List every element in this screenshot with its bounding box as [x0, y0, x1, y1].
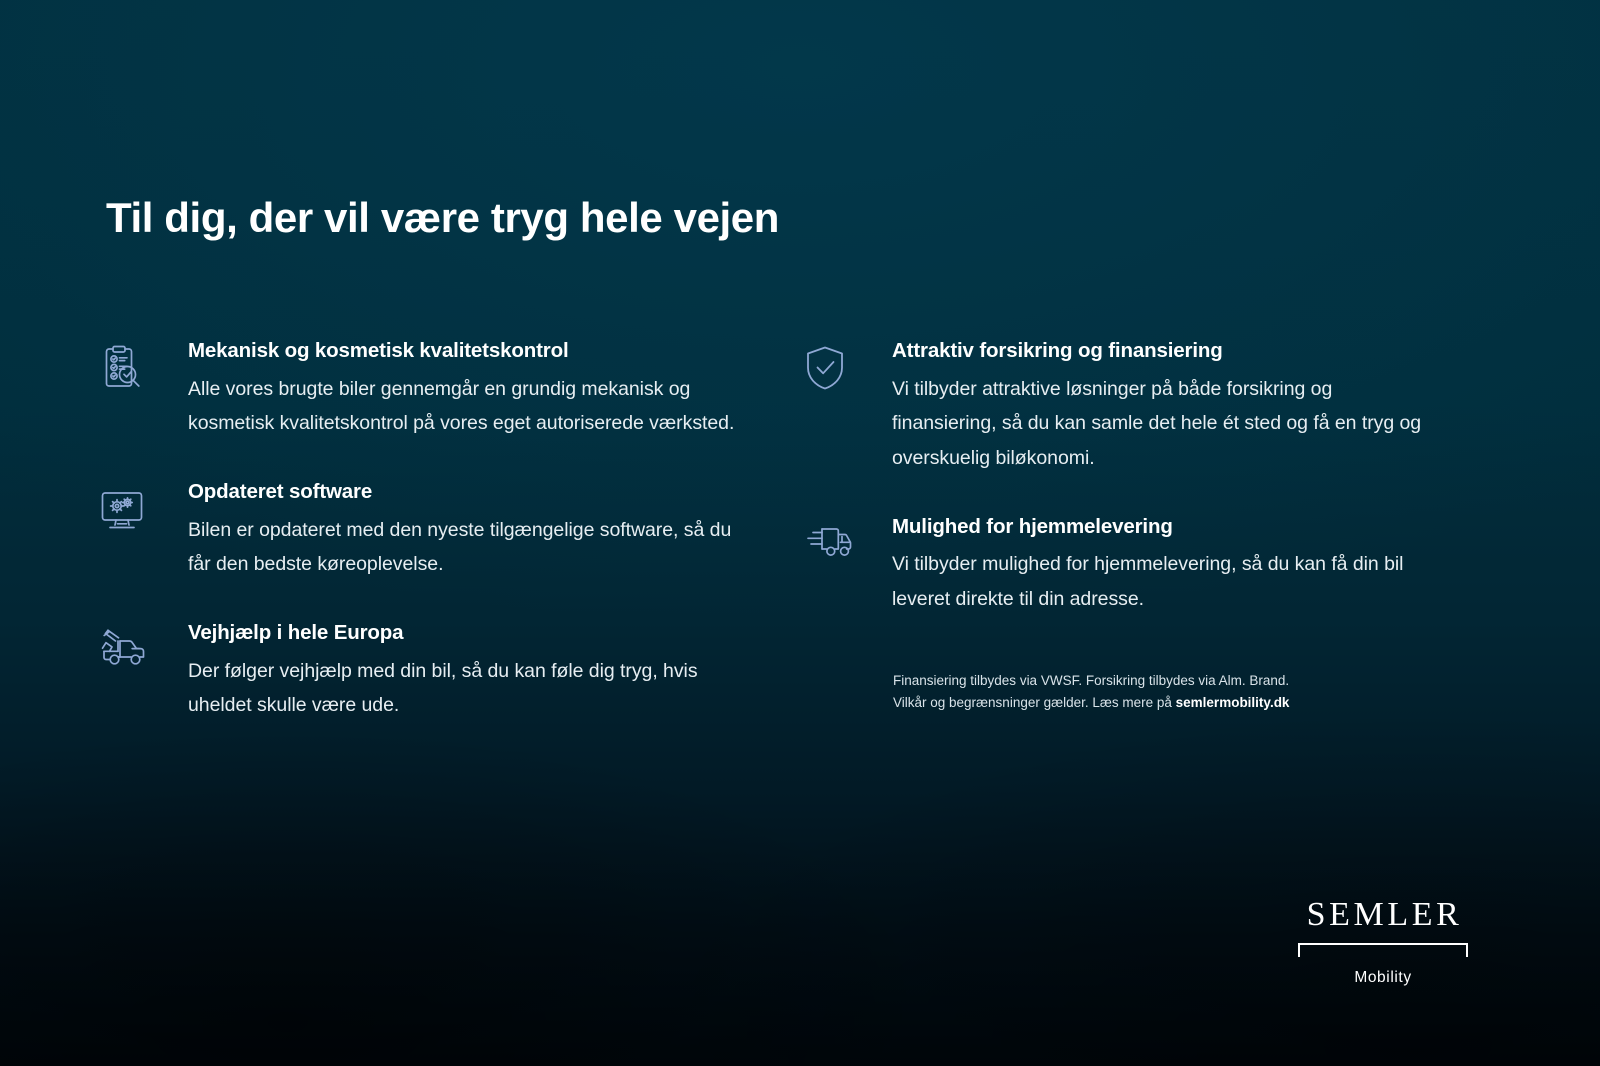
- semler-mobility-logo: SEMLER Mobility: [1298, 898, 1468, 987]
- feature-text: Alle vores brugte biler gennemgår en gru…: [188, 372, 736, 441]
- feature-text: Vi tilbyder mulighed for hjemmelevering,…: [892, 547, 1440, 616]
- monitor-gears-icon: [96, 479, 188, 582]
- feature-text: Bilen er opdateret med den nyeste tilgæn…: [188, 513, 736, 582]
- feature-body: Opdateret software Bilen er opdateret me…: [188, 479, 736, 582]
- feature-column-right: Attraktiv forsikring og finansiering Vi …: [800, 338, 1440, 617]
- feature-item: Mulighed for hjemmelevering Vi tilbyder …: [800, 514, 1440, 617]
- clipboard-check-magnifier-icon: [96, 338, 188, 441]
- tow-truck-icon: [96, 620, 188, 723]
- feature-body: Mekanisk og kosmetisk kvalitetskontrol A…: [188, 338, 736, 441]
- logo-subtitle: Mobility: [1298, 969, 1468, 987]
- feature-item: Opdateret software Bilen er opdateret me…: [96, 479, 736, 582]
- feature-body: Vejhjælp i hele Europa Der følger vejhjæ…: [188, 620, 736, 723]
- feature-body: Attraktiv forsikring og finansiering Vi …: [892, 338, 1440, 476]
- logo-divider: [1298, 943, 1468, 959]
- disclaimer-line-2: Vilkår og begrænsninger gælder. Læs mere…: [893, 692, 1413, 714]
- feature-item: Mekanisk og kosmetisk kvalitetskontrol A…: [96, 338, 736, 441]
- feature-title: Mekanisk og kosmetisk kvalitetskontrol: [188, 338, 736, 364]
- logo-divider-tick-left: [1298, 943, 1300, 957]
- feature-title: Vejhjælp i hele Europa: [188, 620, 736, 646]
- feature-body: Mulighed for hjemmelevering Vi tilbyder …: [892, 514, 1440, 617]
- semlermobility-link[interactable]: semlermobility.dk: [1176, 695, 1290, 710]
- promo-panel: Til dig, der vil være tryg hele vejen: [0, 0, 1600, 1066]
- disclaimer-line-2-prefix: Vilkår og begrænsninger gælder. Læs mere…: [893, 695, 1176, 710]
- feature-item: Attraktiv forsikring og finansiering Vi …: [800, 338, 1440, 476]
- delivery-truck-icon: [800, 514, 892, 617]
- disclaimer: Finansiering tilbydes via VWSF. Forsikri…: [893, 670, 1413, 714]
- feature-item: Vejhjælp i hele Europa Der følger vejhjæ…: [96, 620, 736, 723]
- logo-wordmark: SEMLER: [1298, 898, 1468, 932]
- feature-text: Vi tilbyder attraktive løsninger på både…: [892, 372, 1440, 476]
- shield-check-icon: [800, 338, 892, 476]
- feature-title: Mulighed for hjemmelevering: [892, 514, 1440, 540]
- feature-column-left: Mekanisk og kosmetisk kvalitetskontrol A…: [96, 338, 736, 723]
- logo-divider-bar: [1298, 943, 1468, 945]
- disclaimer-line-1: Finansiering tilbydes via VWSF. Forsikri…: [893, 670, 1413, 692]
- logo-divider-tick-right: [1466, 943, 1468, 957]
- feature-title: Opdateret software: [188, 479, 736, 505]
- feature-title: Attraktiv forsikring og finansiering: [892, 338, 1440, 364]
- feature-text: Der følger vejhjælp med din bil, så du k…: [188, 654, 736, 723]
- page-title: Til dig, der vil være tryg hele vejen: [106, 194, 779, 242]
